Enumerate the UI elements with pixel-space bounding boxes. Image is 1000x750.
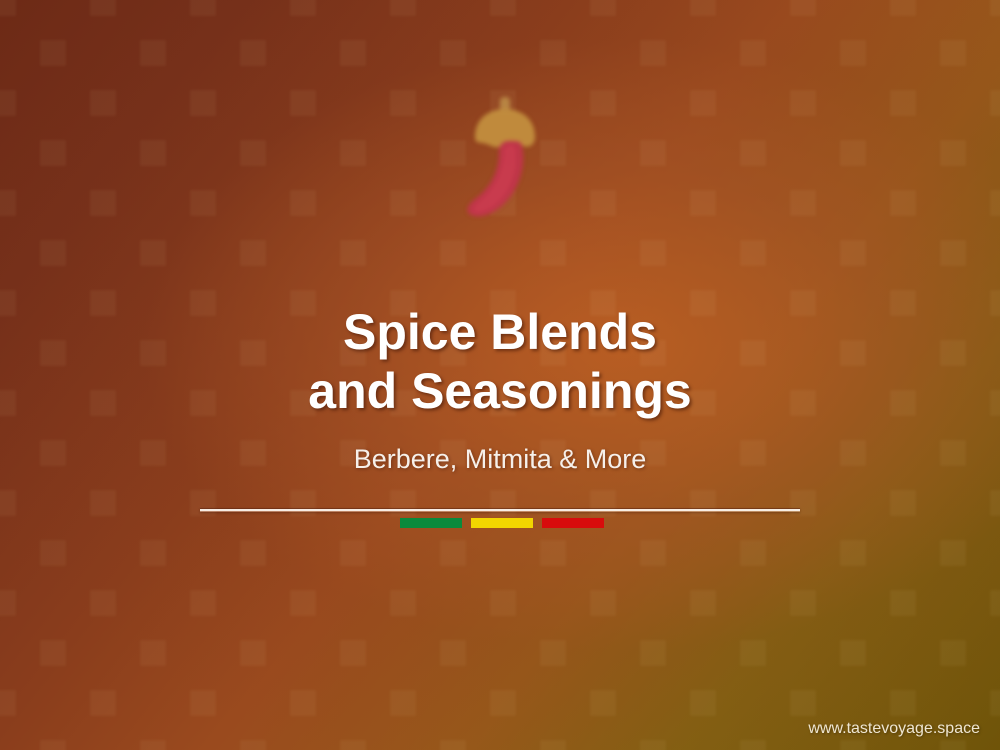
presentation-slide: Spice Blends and Seasonings Berbere, Mit… — [0, 0, 1000, 750]
footer-website: www.tastevoyage.space — [808, 720, 980, 738]
page-subtitle: Berbere, Mitmita & More — [0, 444, 1000, 475]
chili-pepper-icon — [455, 95, 555, 220]
accent-bar-red — [542, 518, 604, 528]
accent-bar-green — [400, 518, 462, 528]
accent-bar-group — [400, 518, 604, 528]
accent-bar-yellow — [471, 518, 533, 528]
page-title: Spice Blends and Seasonings — [0, 303, 1000, 421]
title-divider — [200, 508, 800, 512]
